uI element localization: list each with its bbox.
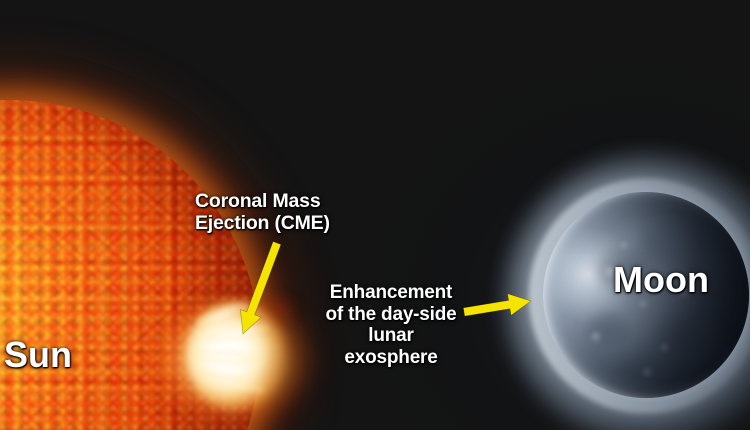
cme-label: Coronal Mass Ejection (CME) [195, 190, 330, 234]
diagram-canvas: Sun Moon Coronal Mass Ejection (CME) Enh… [0, 0, 750, 430]
sun-label: Sun [4, 334, 72, 375]
exosphere-enhancement-label: Enhancement of the day-side lunar exosph… [312, 282, 470, 369]
moon-label: Moon [613, 259, 709, 300]
